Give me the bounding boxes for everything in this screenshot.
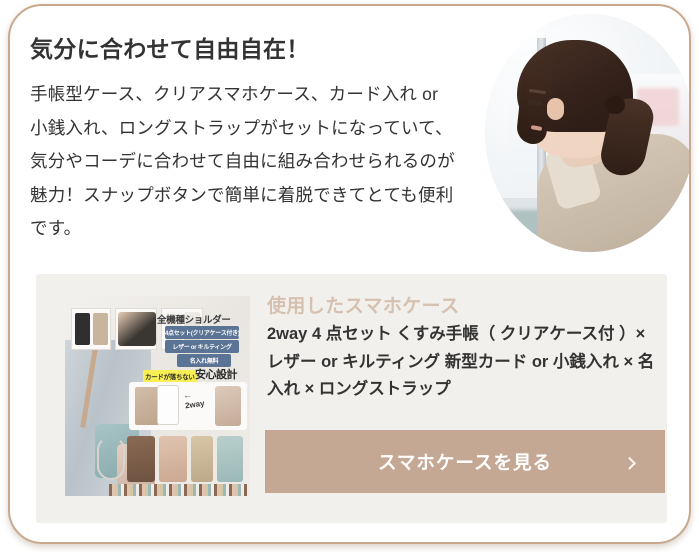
hero-photo <box>485 14 691 252</box>
thumb-variant-pink <box>159 436 187 482</box>
intro-section: 気分に合わせて自由自在！ 手帳型ケース、クリアスマホケース、カード入れ or 小… <box>10 6 689 264</box>
intro-description: 手帳型ケース、クリアスマホケース、カード入れ or 小銭入れ、ロングストラップが… <box>30 78 458 246</box>
thumb-highlight-text: カードが落ちない <box>143 370 197 382</box>
product-description: 2way 4 点セット くすみ手帳（ クリアケース付 ）× レザー or キルテ… <box>267 321 665 404</box>
promo-card: 気分に合わせて自由自在！ 手帳型ケース、クリアスマホケース、カード入れ or 小… <box>8 4 691 544</box>
thumb-phone-beige <box>93 313 108 345</box>
thumb-hand-holding-case <box>118 312 156 346</box>
thumb-badge-set: 4点セット(クリアケース付き) <box>165 326 239 339</box>
person-ear <box>547 98 564 120</box>
cta-button-label: スマホケースを見る <box>378 449 552 475</box>
thumb-safe-design-text: 安心設計 <box>195 366 237 382</box>
thumb-2way-label: 2way <box>184 399 205 411</box>
chevron-right-icon <box>623 456 636 469</box>
product-panel: 全機種ショルダー 4点セット(クリアケース付き) レザー or キルティング 名… <box>36 274 667 523</box>
thumb-title: 全機種ショルダー <box>157 312 231 326</box>
product-thumbnail[interactable]: 全機種ショルダー 4点セット(クリアケース付き) レザー or キルティング 名… <box>65 296 250 496</box>
thumb-variant-beige <box>191 436 213 482</box>
thumb-phone-black <box>75 313 90 345</box>
thumb-open-wallet-case <box>135 387 159 425</box>
thumb-2way-panel: ← 2way <box>129 382 247 430</box>
thumb-chain-strap <box>97 436 125 480</box>
page-title: 気分に合わせて自由自在！ <box>30 30 310 64</box>
left-arrow-icon: ← <box>183 390 192 400</box>
thumb-badge-material: レザー or キルティング <box>165 340 239 353</box>
product-heading: 使用したスマホケース <box>267 291 459 318</box>
hair-tie <box>605 96 625 114</box>
thumb-phone-screen <box>157 385 179 425</box>
thumb-variant-brown <box>127 436 155 482</box>
thumb-cell-1 <box>71 308 111 350</box>
thumb-color-swatches <box>109 484 247 496</box>
thumb-variant-mint <box>217 436 243 482</box>
thumb-cell-2 <box>115 308 157 350</box>
view-phone-case-button[interactable]: スマホケースを見る <box>265 430 665 493</box>
thumb-quilted-back <box>215 386 241 426</box>
